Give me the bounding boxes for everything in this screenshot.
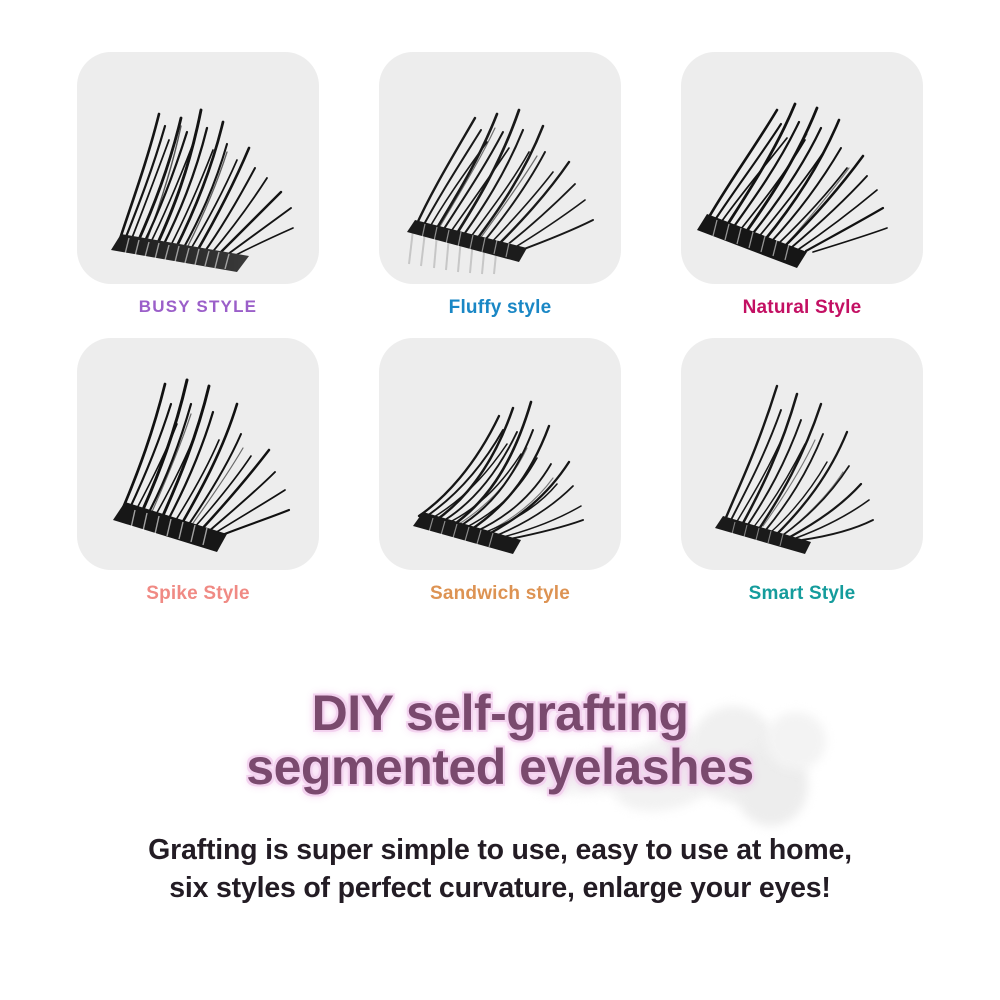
style-image-natural-style (681, 52, 923, 284)
subtitle-line-2: six styles of perfect curvature, enlarge… (0, 870, 1000, 908)
lash-illustration-spike-style (77, 338, 319, 570)
style-card-natural-style[interactable]: Natural Style (681, 52, 923, 317)
lash-styles-grid: BUSY STYLE (0, 0, 1000, 603)
style-card-spike-style[interactable]: Spike Style (77, 338, 319, 603)
subtitle: Grafting is super simple to use, easy to… (0, 832, 1000, 908)
lash-styles-row-1: BUSY STYLE (0, 0, 1000, 317)
style-label-natural-style: Natural Style (743, 298, 862, 317)
subtitle-line-1: Grafting is super simple to use, easy to… (0, 832, 1000, 870)
lash-illustration-sandwich-style (379, 338, 621, 570)
style-image-spike-style (77, 338, 319, 570)
style-image-sandwich-style (379, 338, 621, 570)
lash-illustration-smart-style (681, 338, 923, 570)
style-label-sandwich-style: Sandwich style (430, 584, 570, 603)
style-image-busy-style (77, 52, 319, 284)
style-label-busy-style: BUSY STYLE (139, 298, 257, 315)
headline-line-2: segmented eyelashes (0, 740, 1000, 794)
style-label-fluffy-style: Fluffy style (449, 298, 552, 317)
style-card-fluffy-style[interactable]: Fluffy style (379, 52, 621, 317)
style-image-smart-style (681, 338, 923, 570)
product-infographic-page: { "page": { "background_color": "#ffffff… (0, 0, 1000, 1000)
style-card-smart-style[interactable]: Smart Style (681, 338, 923, 603)
headline-line-1: DIY self-grafting (0, 686, 1000, 740)
style-card-sandwich-style[interactable]: Sandwich style (379, 338, 621, 603)
style-card-busy-style[interactable]: BUSY STYLE (77, 52, 319, 317)
lash-illustration-natural-style (681, 52, 923, 284)
lash-illustration-busy-style (77, 52, 319, 284)
style-label-spike-style: Spike Style (146, 584, 250, 603)
style-image-fluffy-style (379, 52, 621, 284)
headline: DIY self-grafting segmented eyelashes (0, 686, 1000, 794)
lash-illustration-fluffy-style (379, 52, 621, 284)
style-label-smart-style: Smart Style (749, 584, 856, 603)
lash-styles-row-2: Spike Style (0, 317, 1000, 603)
